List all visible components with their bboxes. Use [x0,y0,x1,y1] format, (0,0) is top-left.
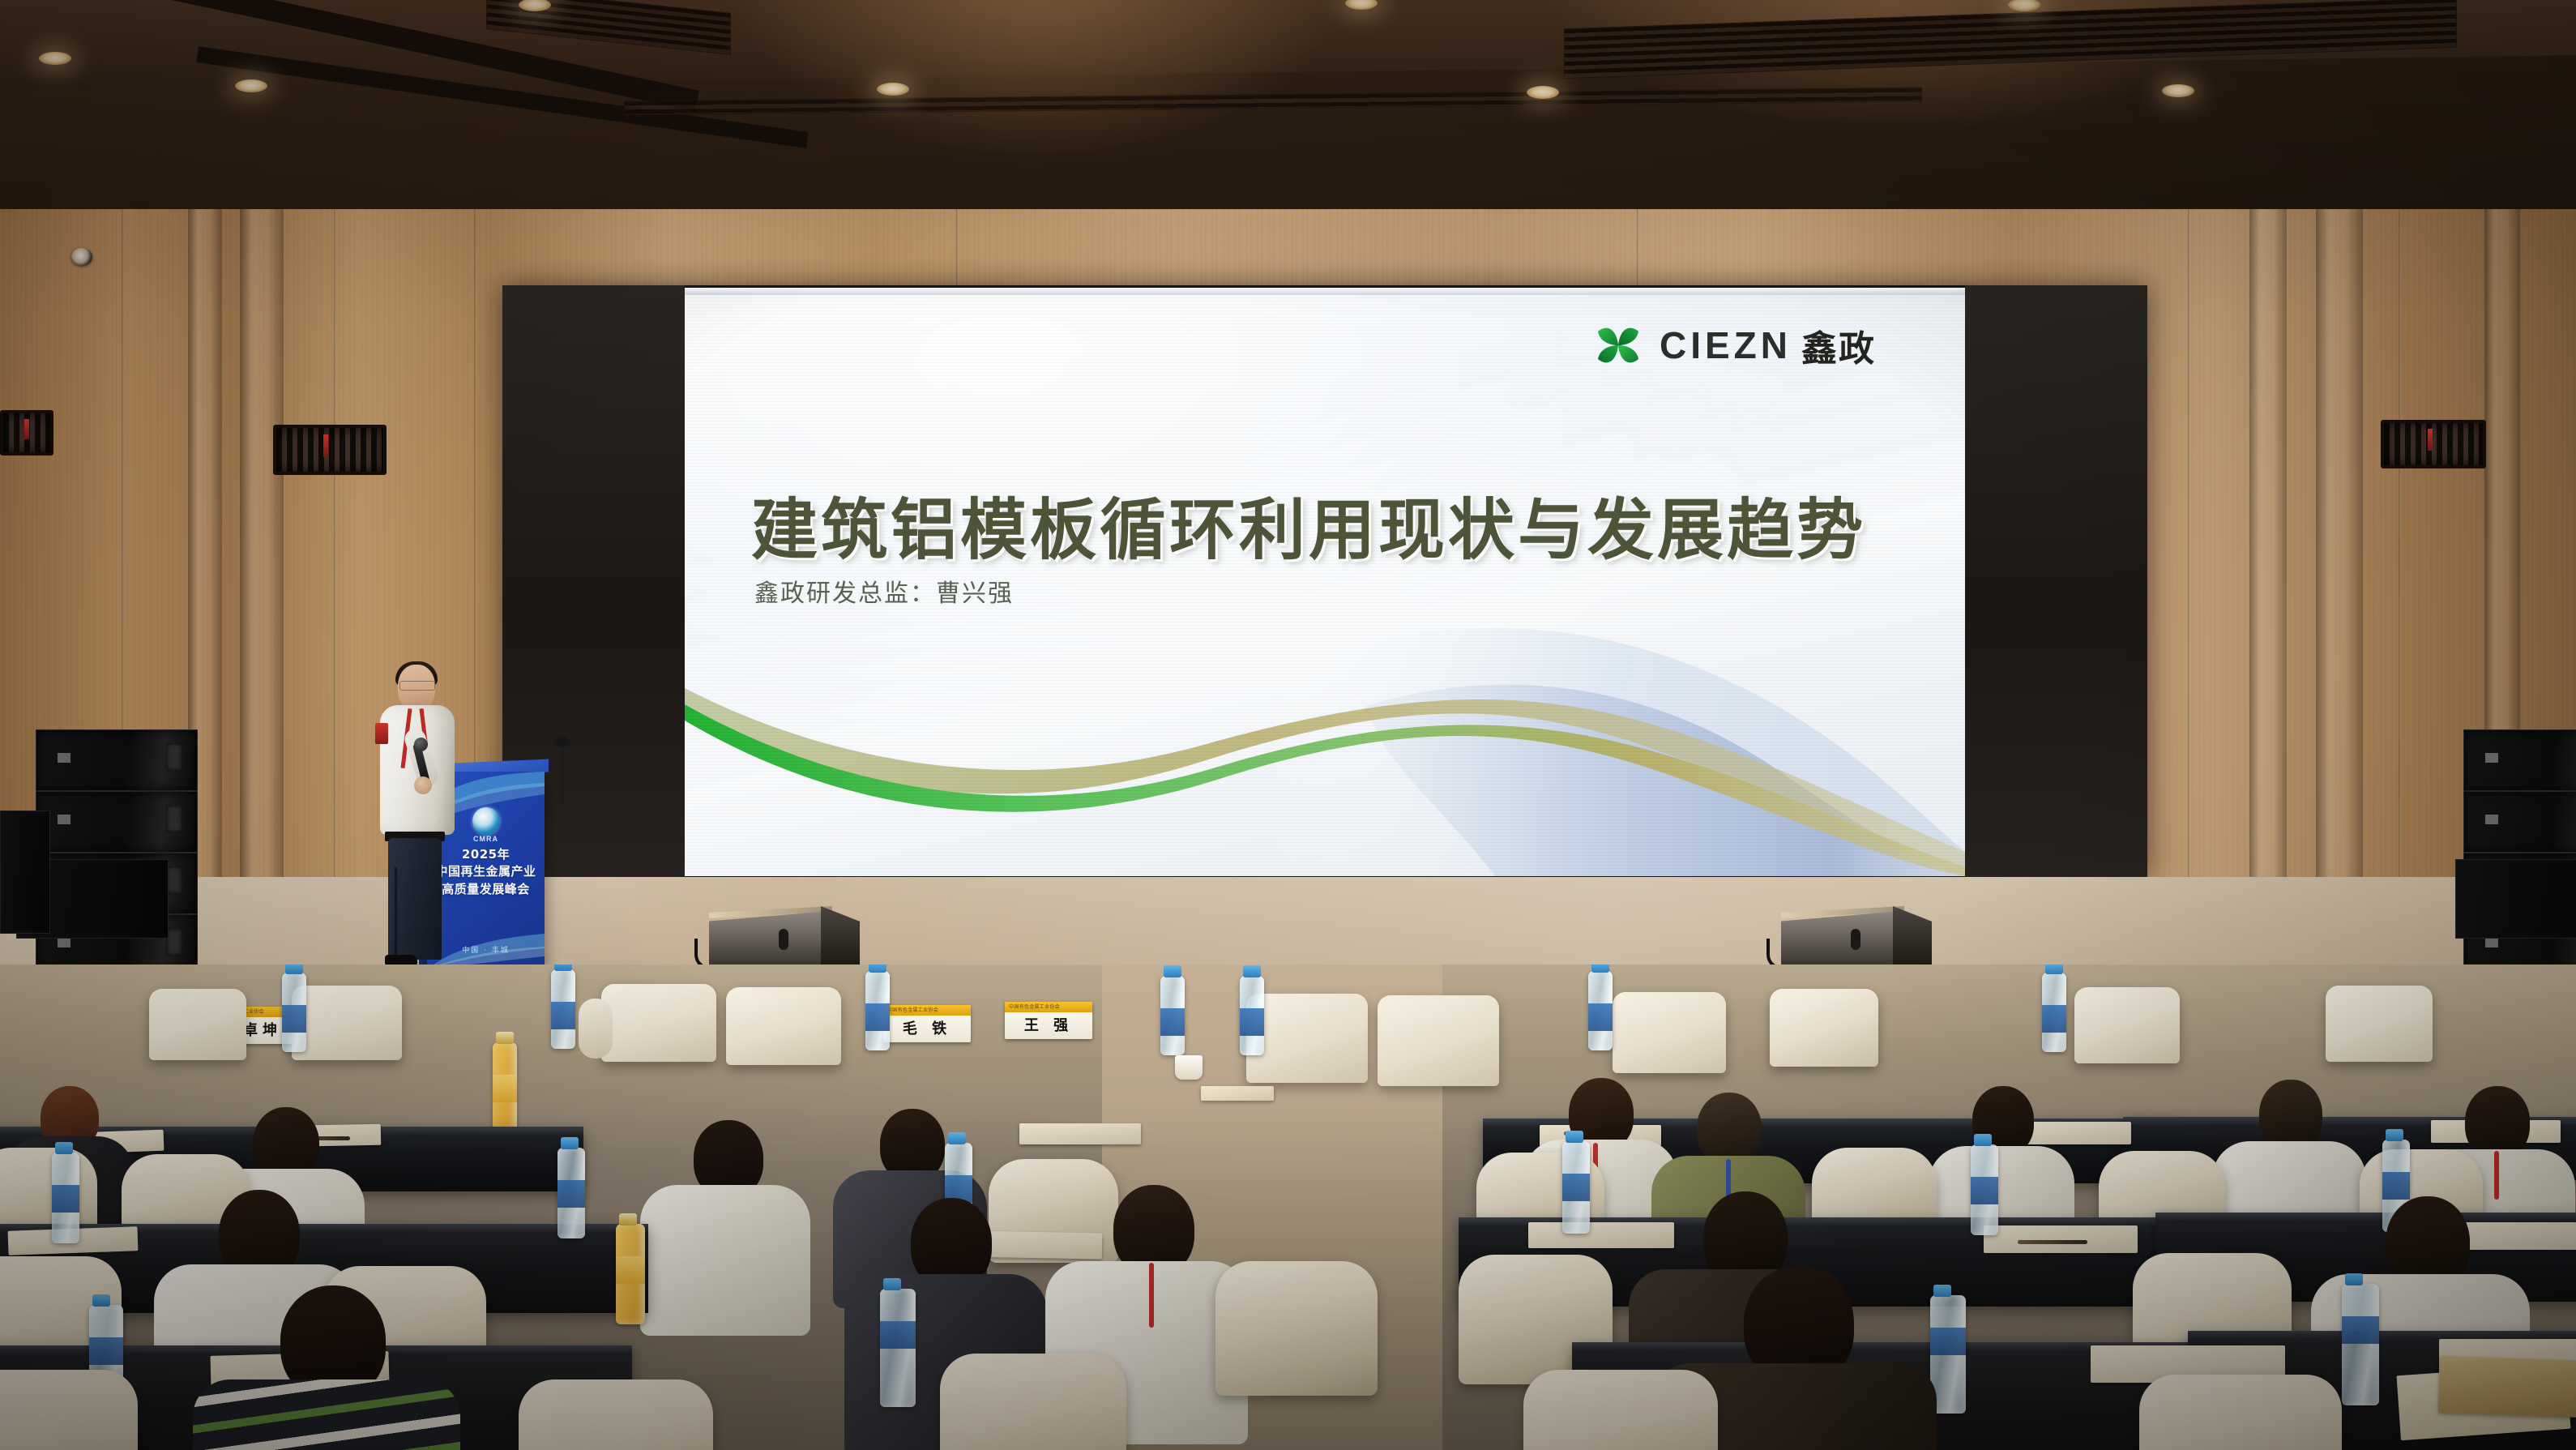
tea-bottle [493,1042,517,1131]
audience-chair [1215,1261,1378,1396]
speaker-badge [58,938,70,947]
vip-sofa-seat [1246,994,1368,1083]
screen-top-highlight [685,288,1965,295]
ceiling-downlight [2162,84,2194,97]
notepad [1984,1225,2138,1253]
water-bottle [865,971,890,1050]
ceiling-camera-sensor [71,248,92,266]
water-bottle [2042,973,2066,1052]
ciezn-pinwheel-icon [1591,319,1645,372]
vip-sofa-seat [726,987,841,1065]
bottle-label [880,1321,916,1349]
bottle-cap [92,1294,110,1307]
wall-panel-seam [2188,209,2190,963]
bottle-label [1971,1177,1998,1204]
vip-sofa-seat [1770,989,1878,1067]
bottle-label [1240,1008,1264,1036]
person-torso [193,1379,460,1450]
speaker-port [166,928,182,956]
bottle-cap [1164,965,1181,977]
namecard-org-bar: 中国有色金属工业协会 [883,1005,971,1016]
water-bottle [1971,1144,1998,1235]
vent-indicator [24,419,29,439]
water-bottle [1160,976,1185,1055]
vip-sofa-seat [601,984,716,1062]
audience-chair [940,1354,1126,1450]
water-bottle [1588,971,1613,1050]
water-bottle [282,973,306,1052]
screen-side-panel-right [1965,285,2147,879]
water-bottle [557,1148,585,1238]
tea-bottle [616,1224,645,1324]
wall-vent-grille [0,410,53,456]
vip-armrest [579,999,613,1059]
bottle-cap [1243,965,1261,977]
audience-chair [1523,1370,1718,1450]
bottle-cap [2345,1273,2363,1285]
ceiling-downlight [877,83,909,96]
presenter-hand [414,776,432,794]
slide-logo: CIEZN 鑫政 [1591,319,1876,372]
line-array-module [2463,729,2576,791]
bottle-cap [55,1142,73,1154]
bottle-cap [285,965,303,974]
wall-pillar [240,209,284,963]
vip-sofa-seat [2074,987,2180,1063]
water-bottle [1240,976,1264,1055]
bottle-label [89,1337,123,1365]
namecard-org-bar: 中国有色金属工业协会 [1005,1002,1092,1012]
vent-indicator [323,434,328,457]
wall-pillar [2316,209,2363,963]
bottle-cap [1974,1134,1992,1146]
speaker-port [166,866,182,894]
bottle-cap [554,965,572,971]
bottle-label [616,1256,645,1284]
vip-sofa-seat [1613,992,1726,1073]
booklet [1201,1086,1274,1101]
bottle-cap [1591,965,1609,973]
brand-latin: CIEZN [1660,323,1792,367]
slide-subtitle: 鑫政研发总监：曹兴强 [754,573,1014,609]
vip-sofa-seat [149,989,246,1060]
audience-chair [0,1370,138,1450]
bottle-label [2042,1005,2066,1033]
presenter-person [369,665,466,973]
presentation-slide: CIEZN 鑫政 建筑铝模板循环利用现状与发展趋势 鑫政研发总监：曹兴强 [685,288,1965,876]
namecard-org: 中国有色金属工业协会 [887,1006,938,1013]
ceiling [0,0,2576,243]
bottle-label [493,1075,517,1102]
water-bottle [2342,1284,2379,1405]
bottle-cap [561,1137,579,1149]
person-head [2465,1086,2530,1159]
person-head [2259,1080,2322,1151]
bottle-cap [496,1032,514,1044]
namecard-org: 中国有色金属工业协会 [1009,1003,1060,1010]
line-array-speaker-stack-left [36,729,196,987]
water-bottle [52,1153,79,1243]
speaker-port [166,743,182,771]
person-torso [640,1185,810,1336]
namecard-name: 毛 铁 [883,1017,971,1038]
presenter-glasses [399,681,435,691]
bottle-label [2382,1172,2410,1200]
pinwheel-svg [1591,319,1645,372]
bottle-label [1562,1174,1590,1201]
subwoofer-cabinet-right [2455,859,2576,939]
bottle-cap [869,965,886,973]
wall-panel-seam [334,209,336,963]
gooseneck-mic-head [554,736,570,747]
speaker-badge [58,815,70,824]
line-array-module [2463,791,2576,853]
speaker-badge [2485,815,2498,824]
brand-chinese: 鑫政 [1801,319,1876,371]
bottle-cap [2045,965,2063,974]
person-head [1697,1093,1762,1166]
audience-person [640,1120,810,1318]
wall-vent-grille [273,425,387,475]
line-array-module [36,729,198,791]
speaker-badge [58,753,70,763]
bottle-cap [619,1213,637,1225]
bottle-cap [948,1132,966,1144]
ceiling-downlight [235,79,267,92]
bottle-label [2342,1316,2379,1344]
water-bottle [880,1289,916,1407]
vip-sofa-seat [292,986,402,1060]
cmra-emblem-icon [472,807,500,835]
bottle-label [865,1003,890,1031]
brand-lockup: CIEZN 鑫政 [1660,319,1876,371]
bottle-label [1588,1003,1613,1031]
ceiling-downlight [1527,86,1559,99]
bottle-cap [883,1278,901,1290]
ceiling-light-wash [729,0,1345,154]
wedge-handle-slot [1851,929,1860,950]
table-edge [2188,1331,2576,1339]
bottle-label [1160,1008,1185,1036]
podium-gooseneck-microphone [561,744,564,804]
water-bottle [551,969,575,1049]
bottle-cap [1566,1131,1583,1143]
person-lanyard [2494,1151,2499,1200]
paper-cup [1175,1055,1203,1080]
led-video-wall: CIEZN 鑫政 建筑铝模板循环利用现状与发展趋势 鑫政研发总监：曹兴强 [502,285,2147,879]
table-namecard: 中国有色金属工业协会 毛 铁 [883,1005,971,1042]
wall-panel-seam [2399,209,2401,963]
water-bottle [1562,1141,1590,1234]
person-lanyard [1149,1263,1154,1328]
speaker-badge [2485,753,2498,763]
ceiling-downlight [39,52,71,65]
subwoofer-cabinet-left [0,811,50,934]
bottle-label [551,1002,575,1029]
speaker-port [166,805,182,832]
microphone-capsule [414,738,428,751]
table-namecard: 中国有色金属工业协会 王 强 [1005,1002,1092,1039]
line-array-module [36,791,198,853]
wall-vent-grille [2381,420,2486,468]
vent-indicator [2428,429,2433,451]
audience-chair [519,1379,713,1450]
line-array-speaker-stack-right [2463,729,2576,987]
vip-sofa-seat [2326,986,2433,1062]
bottle-label [557,1180,585,1208]
bottle-label [282,1005,306,1033]
conference-hall-photo: CIEZN 鑫政 建筑铝模板循环利用现状与发展趋势 鑫政研发总监：曹兴强 [0,0,2576,1450]
notepad [1019,1123,1141,1144]
bottle-label [52,1185,79,1213]
speaker-badge [2485,938,2498,947]
audience-person-foreground [193,1285,460,1450]
audience-chair [2139,1375,2342,1450]
wall-pillar [2249,209,2287,963]
slide-title: 建筑铝模板循环利用现状与发展趋势 [751,476,1934,572]
wedge-handle-slot [779,929,788,950]
vip-sofa-seat [1378,995,1499,1086]
audience-area: 中国有色金属工业协会 曹卓坤 中国有色金属工业协会 毛 铁 中国有色金属工业协会… [0,965,2576,1450]
cmra-label: CMRA [473,835,498,843]
conference-folder [2438,1356,2576,1418]
pen [2018,1240,2087,1244]
trouser-seam [395,867,397,958]
presenter-badge [375,723,388,744]
namecard-name: 王 强 [1005,1014,1092,1035]
bottle-cap [2386,1129,2403,1141]
